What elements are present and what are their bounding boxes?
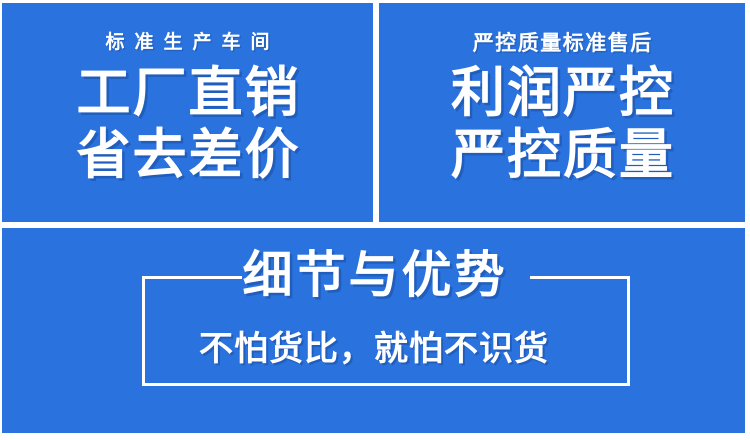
panel-quality-control-eyebrow: 严控质量标准售后 [471,33,653,54]
panel-quality-control-headline-line2: 严控质量 [449,127,675,183]
panel-factory-direct-eyebrow: 标准生产车间 [95,33,279,52]
panel-factory-direct: 标准生产车间 工厂直销 省去差价 [2,3,373,222]
panel-quality-control: 严控质量标准售后 利润严控 严控质量 [379,3,745,222]
panel-details-advantages-title: 细节与优势 [2,250,745,300]
panel-factory-direct-headline-line2: 省去差价 [75,127,301,183]
promo-banner: 标准生产车间 工厂直销 省去差价 严控质量标准售后 利润严控 严控质量 细节与优… [0,0,750,440]
panel-factory-direct-headline-line1: 工厂直销 [75,65,301,121]
panel-details-advantages: 细节与优势 不怕货比，就怕不识货 [2,228,745,433]
panel-quality-control-headline-line1: 利润严控 [449,65,675,121]
panel-quality-control-stack: 严控质量标准售后 利润严控 严控质量 [379,3,745,183]
panel-details-advantages-inner: 细节与优势 不怕货比，就怕不识货 [2,228,745,433]
panel-factory-direct-stack: 标准生产车间 工厂直销 省去差价 [2,3,373,183]
panel-details-advantages-subtitle: 不怕货比，就怕不识货 [2,332,745,366]
